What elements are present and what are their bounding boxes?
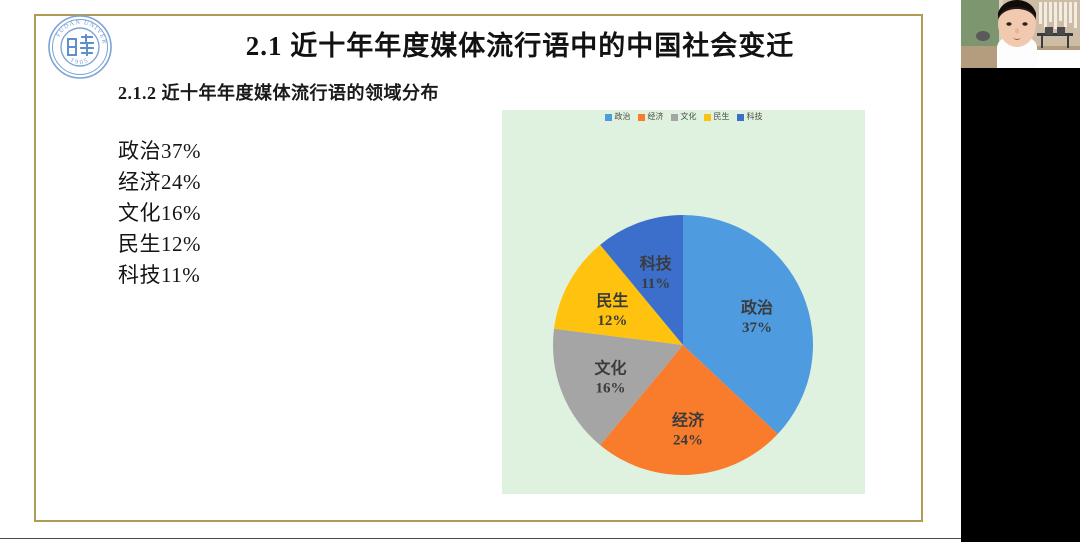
- video-sidebar[interactable]: [961, 0, 1080, 542]
- list-item: 经济24%: [118, 167, 338, 198]
- pie-slice-label: 政治: [741, 298, 773, 317]
- list-item: 民生12%: [118, 229, 338, 260]
- pie-slice-value: 24%: [673, 432, 703, 448]
- pie-slice-value: 37%: [742, 320, 772, 336]
- pie-chart: 政治 经济 文化 民生 科技: [502, 110, 865, 494]
- list-item: 科技11%: [118, 260, 338, 291]
- pie-slice-value: 11%: [641, 276, 670, 292]
- pie-slice-label: 经济: [672, 410, 705, 429]
- pie-slice-label: 科技: [640, 254, 673, 273]
- list-item: 文化16%: [118, 198, 338, 229]
- pie-chart-canvas: 政治37%经济24%文化16%民生12%科技11%: [502, 110, 865, 494]
- screen: FUDAN UNIVERSITY 1905: [0, 0, 1080, 542]
- pie-slice-label: 民生: [596, 291, 628, 310]
- domain-distribution-list: 政治37% 经济24% 文化16% 民生12% 科技11%: [118, 136, 338, 291]
- presenter-video-thumbnail[interactable]: [961, 0, 1080, 68]
- slide-bottom-divider: [0, 538, 961, 539]
- fudan-university-logo-icon: FUDAN UNIVERSITY 1905: [45, 12, 115, 82]
- pie-slice-value: 12%: [597, 313, 627, 329]
- slide-area: FUDAN UNIVERSITY 1905: [0, 0, 961, 542]
- list-item: 政治37%: [118, 136, 338, 167]
- page-title: 2.1 近十年年度媒体流行语中的中国社会变迁: [150, 24, 890, 63]
- page-subtitle: 2.1.2 近十年年度媒体流行语的领域分布: [118, 79, 439, 105]
- pie-slice-value: 16%: [595, 381, 625, 397]
- pie-slice-label: 文化: [594, 359, 626, 378]
